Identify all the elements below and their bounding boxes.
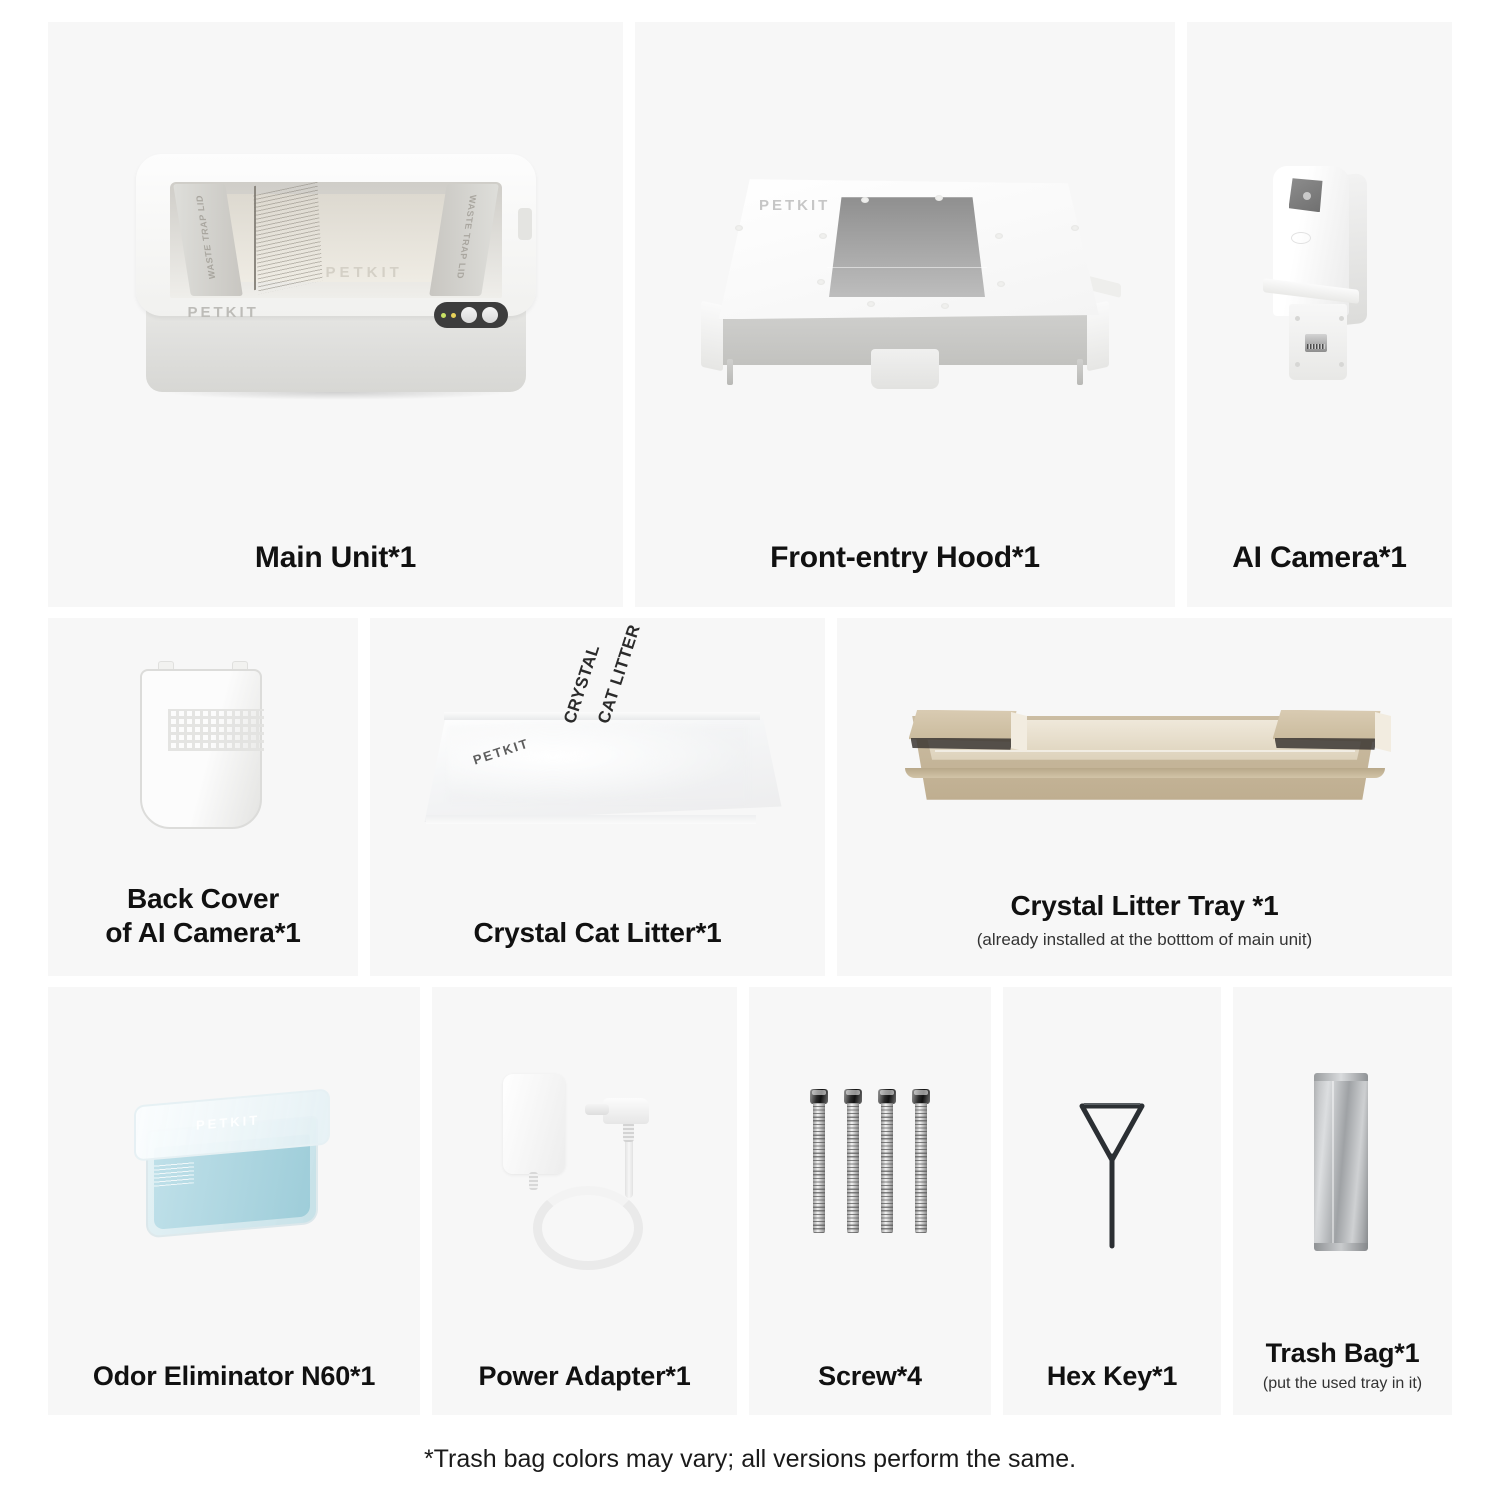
crystal-litter-tray-note: (already installed at the botttom of mai… — [837, 930, 1452, 950]
screw-shaft — [915, 1103, 927, 1233]
item-card-ai-camera[interactable]: AI Camera*1 — [1187, 22, 1452, 607]
waste-trap-lid-label-right: WASTE TRAP LID — [454, 195, 477, 279]
ai-camera-label: AI Camera*1 — [1187, 540, 1452, 577]
litter-tray-block-side — [1011, 712, 1027, 752]
ai-camera-caption: AI Camera*1 — [1187, 540, 1452, 607]
control-button-2[interactable] — [482, 307, 498, 323]
power-adapter-strain-relief — [529, 1172, 538, 1190]
screw-item — [810, 1089, 828, 1259]
status-led-yellow — [451, 313, 456, 318]
ai-camera-dimple — [1291, 232, 1311, 244]
back-cover-vent-holes — [168, 709, 264, 751]
power-adapter-illustration — [432, 987, 737, 1360]
main-unit-inner-brand-logo: PETKIT — [326, 264, 403, 281]
odor-eliminator-caption: Odor Eliminator N60*1 — [48, 1360, 420, 1415]
contents-row-1: WASTE TRAP LID WASTE TRAP LID PETKIT PET… — [48, 22, 1452, 607]
trash-bag-top-edge — [1314, 1073, 1368, 1081]
power-adapter-brick — [503, 1074, 565, 1174]
litter-bag-text-line2: CAT LITTER — [594, 622, 644, 726]
hood-mount-pin-right — [1077, 359, 1083, 385]
item-card-crystal-cat-litter[interactable]: PETKIT CRYSTAL CAT LITTER Crystal Cat Li… — [370, 618, 825, 976]
hex-key-illustration — [1003, 987, 1221, 1360]
litter-tray-bottom-lip — [905, 768, 1385, 778]
main-unit-illustration: WASTE TRAP LID WASTE TRAP LID PETKIT PET… — [48, 22, 623, 540]
back-cover-shell — [140, 669, 262, 829]
back-cover-label-line2: of AI Camera*1 — [48, 916, 358, 950]
screw-head — [844, 1089, 862, 1104]
crystal-litter-tray-caption: Crystal Litter Tray *1 (already installe… — [837, 889, 1452, 976]
main-unit-control-panel[interactable] — [434, 302, 508, 328]
odor-eliminator-ridges — [154, 1161, 194, 1186]
package-contents-sheet: WASTE TRAP LID WASTE TRAP LID PETKIT PET… — [0, 0, 1500, 1500]
litter-tray-block-top — [1273, 710, 1381, 742]
back-cover-caption: Back Cover of AI Camera*1 — [48, 882, 358, 976]
front-entry-hood-caption: Front-entry Hood*1 — [635, 540, 1175, 607]
trash-bag-caption: Trash Bag*1 (put the used tray in it) — [1233, 1337, 1452, 1415]
item-card-back-cover-of-ai-camera[interactable]: Back Cover of AI Camera*1 — [48, 618, 358, 976]
ai-camera-screw-dot — [1295, 362, 1300, 367]
hood-mount-pin-left — [727, 359, 733, 385]
main-unit-cavity: WASTE TRAP LID WASTE TRAP LID PETKIT — [170, 182, 502, 298]
ai-camera-connector-pins — [1307, 344, 1325, 349]
item-card-trash-bag[interactable]: Trash Bag*1 (put the used tray in it) — [1233, 987, 1452, 1415]
power-adapter-cable-run — [625, 1138, 633, 1198]
contents-row-2: Back Cover of AI Camera*1 PETKIT CRYSTAL… — [48, 618, 1452, 976]
screw-head — [810, 1089, 828, 1104]
litter-tray-block-face — [911, 738, 1013, 750]
main-unit-label: Main Unit*1 — [48, 540, 623, 577]
litter-tray-block-top — [909, 710, 1017, 742]
item-card-odor-eliminator[interactable]: PETKIT Odor Eliminator N60*1 — [48, 987, 420, 1415]
back-cover-illustration — [48, 618, 358, 882]
screw-item — [878, 1089, 896, 1259]
screw-shaft — [847, 1103, 859, 1233]
screw-head — [878, 1089, 896, 1104]
ai-camera-illustration — [1187, 22, 1452, 540]
litter-bag-sheen — [448, 726, 748, 802]
screw-shaft — [813, 1103, 825, 1233]
crystal-cat-litter-illustration: PETKIT CRYSTAL CAT LITTER — [370, 618, 825, 916]
power-adapter-plug-strain-relief — [623, 1122, 634, 1142]
odor-eliminator-label: Odor Eliminator N60*1 — [48, 1360, 420, 1393]
power-adapter-label: Power Adapter*1 — [432, 1360, 737, 1393]
trash-bag-fold-line — [1332, 1079, 1334, 1243]
trash-bag-bottom-edge — [1314, 1243, 1368, 1251]
waste-trap-lid-label-left: WASTE TRAP LID — [193, 195, 216, 279]
litter-tray-block-face — [1275, 738, 1377, 750]
crystal-litter-tray-label: Crystal Litter Tray *1 — [837, 889, 1452, 923]
litter-tray-block-side — [1375, 712, 1391, 752]
power-adapter-coiled-cable — [533, 1186, 643, 1270]
trash-bag-note: (put the used tray in it) — [1233, 1374, 1452, 1393]
litter-bag-bottom-seal — [426, 815, 756, 824]
hex-key-caption: Hex Key*1 — [1003, 1360, 1221, 1415]
item-card-power-adapter[interactable]: Power Adapter*1 — [432, 987, 737, 1415]
crystal-cat-litter-caption: Crystal Cat Litter*1 — [370, 916, 825, 976]
control-button-1[interactable] — [461, 307, 477, 323]
crystal-litter-tray-illustration — [837, 618, 1452, 889]
hood-front-tab — [871, 349, 939, 389]
camera-lens-icon — [1303, 192, 1311, 200]
trash-bag-illustration — [1233, 987, 1452, 1337]
screw-item — [844, 1089, 862, 1259]
item-card-front-entry-hood[interactable]: PETKIT Front-entry Hood*1 — [635, 22, 1175, 607]
hex-key-icon — [1052, 1084, 1172, 1264]
hood-entry-window — [829, 197, 985, 297]
power-adapter-plug-head — [603, 1098, 649, 1124]
back-cover-label-line1: Back Cover — [48, 882, 358, 916]
ai-camera-connector-port — [1305, 334, 1327, 352]
ai-camera-screw-dot — [1295, 316, 1300, 321]
footer-disclaimer: *Trash bag colors may vary; all versions… — [0, 1445, 1500, 1474]
power-adapter-plug-tip — [585, 1104, 609, 1115]
screw-caption: Screw*4 — [749, 1360, 991, 1415]
status-led-green — [441, 313, 446, 318]
ai-camera-screw-dot — [1339, 362, 1344, 367]
ai-camera-screw-dot — [1339, 316, 1344, 321]
litter-tray-block-left — [909, 710, 1017, 754]
hex-key-label: Hex Key*1 — [1003, 1360, 1221, 1393]
odor-eliminator-illustration: PETKIT — [48, 987, 420, 1360]
litter-tray-block-right — [1273, 710, 1381, 754]
item-card-crystal-litter-tray[interactable]: Crystal Litter Tray *1 (already installe… — [837, 618, 1452, 976]
crystal-cat-litter-label: Crystal Cat Litter*1 — [370, 916, 825, 950]
item-card-hex-key[interactable]: Hex Key*1 — [1003, 987, 1221, 1415]
screw-head — [912, 1089, 930, 1104]
screw-item — [912, 1089, 930, 1259]
screw-shaft — [881, 1103, 893, 1233]
hood-left-lip — [701, 301, 723, 372]
front-entry-hood-label: Front-entry Hood*1 — [635, 540, 1175, 577]
screw-label: Screw*4 — [749, 1360, 991, 1393]
main-unit-side-latch — [518, 208, 532, 240]
trash-bag-body — [1314, 1075, 1368, 1247]
hood-brand-logo: PETKIT — [759, 197, 830, 214]
power-adapter-caption: Power Adapter*1 — [432, 1360, 737, 1415]
contents-row-3: PETKIT Odor Eliminator N60*1 — [48, 987, 1452, 1415]
item-card-screw[interactable]: Screw*4 — [749, 987, 991, 1415]
front-entry-hood-illustration: PETKIT — [635, 22, 1175, 540]
main-unit-brand-logo: PETKIT — [188, 304, 259, 321]
screw-illustration — [749, 987, 991, 1360]
trash-bag-label: Trash Bag*1 — [1233, 1337, 1452, 1370]
main-unit-caption: Main Unit*1 — [48, 540, 623, 607]
item-card-main-unit[interactable]: WASTE TRAP LID WASTE TRAP LID PETKIT PET… — [48, 22, 623, 607]
main-unit-rake — [253, 182, 322, 294]
hood-window-seam — [827, 267, 987, 268]
